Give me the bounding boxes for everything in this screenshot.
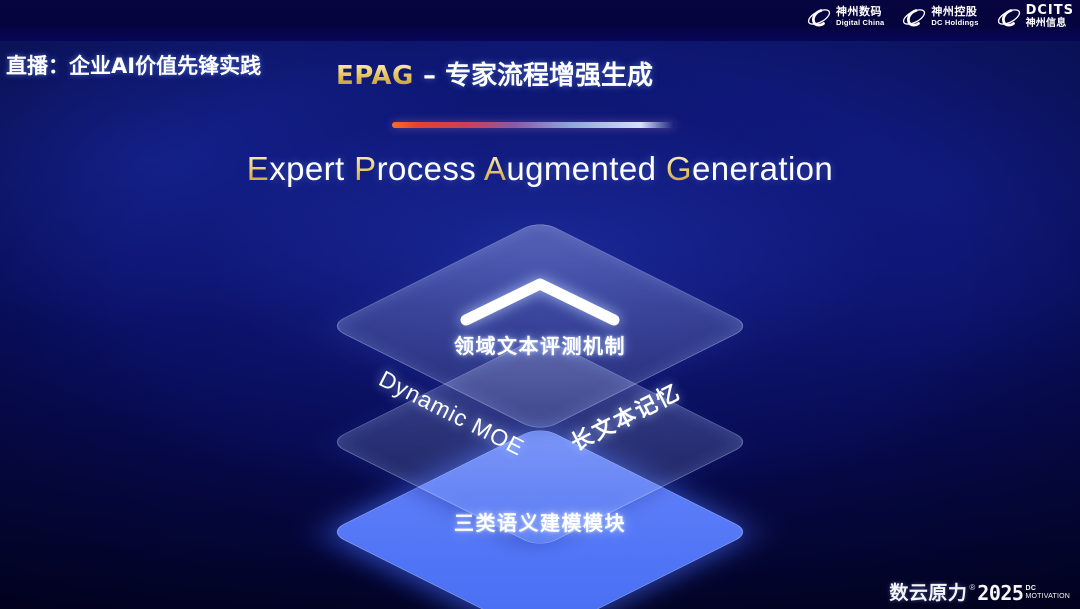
partner-name-cn: 神州数码	[836, 6, 884, 18]
gradient-divider	[392, 122, 675, 128]
swirl-icon	[901, 6, 927, 28]
partner-logo-digital-china: 神州数码 Digital China	[806, 6, 884, 28]
page-title-dash: –	[414, 61, 445, 91]
live-session-title: 直播：企业AI价值先锋实践	[6, 50, 261, 80]
page-title-acronym: EPAG	[336, 61, 414, 91]
diagram-layer-bottom-label: 三类语义建模模块	[0, 507, 1080, 536]
swirl-icon	[806, 6, 832, 28]
watermark-motivation: MOTIVATION	[1025, 593, 1070, 601]
partner-logo-dc-holdings: 神州控股 DC Holdings	[901, 6, 978, 28]
page-subtitle-capital: P	[354, 150, 376, 187]
page-subtitle-capital: E	[247, 150, 269, 187]
page-subtitle-text: xpert	[269, 150, 354, 187]
partner-name-en: Digital China	[836, 18, 884, 27]
watermark-registered: ®	[969, 583, 975, 593]
partner-logo-group: 神州数码 Digital China 神州控股 DC Holdings	[806, 4, 1074, 29]
partner-logo-text: 神州数码 Digital China	[836, 6, 884, 27]
watermark-dc-motivation: DC MOTIVATION	[1025, 585, 1070, 600]
partner-name-cn: DCITS	[1026, 4, 1074, 18]
diagram-layer-top	[328, 220, 752, 432]
page-title-cn: 专家流程增强生成	[445, 61, 653, 91]
page-title: EPAG – 专家流程增强生成	[336, 55, 653, 92]
partner-name-en: 神州信息	[1026, 18, 1074, 29]
watermark-dc: DC	[1025, 585, 1070, 593]
partner-logo-text: 神州控股 DC Holdings	[931, 6, 978, 27]
partner-logo-dcits: DCITS 神州信息	[996, 4, 1074, 29]
page-subtitle-text: eneration	[692, 150, 833, 187]
partner-name-en: DC Holdings	[931, 18, 978, 27]
partner-name-cn: 神州控股	[931, 6, 978, 18]
swirl-icon	[996, 6, 1022, 28]
diagram-layer-top-label: 领域文本评测机制	[0, 330, 1080, 359]
page-subtitle: Expert Process Augmented Generation	[0, 150, 1080, 188]
partner-logo-text: DCITS 神州信息	[1026, 4, 1074, 29]
watermark-cn: 数云原力	[889, 583, 967, 604]
brand-watermark: 数云原力 ® 2025 DC MOTIVATION	[889, 583, 1070, 604]
page-subtitle-capital: A	[484, 150, 506, 187]
page-subtitle-text: ugmented	[506, 150, 666, 187]
page-subtitle-text: rocess	[377, 150, 484, 187]
page-subtitle-capital: G	[666, 150, 692, 187]
watermark-year: 2025	[977, 583, 1023, 604]
slide-canvas: 领域文本评测机制 Dynamic MOE 长文本记忆 三类语义建模模块 数云原力…	[0, 0, 1080, 609]
